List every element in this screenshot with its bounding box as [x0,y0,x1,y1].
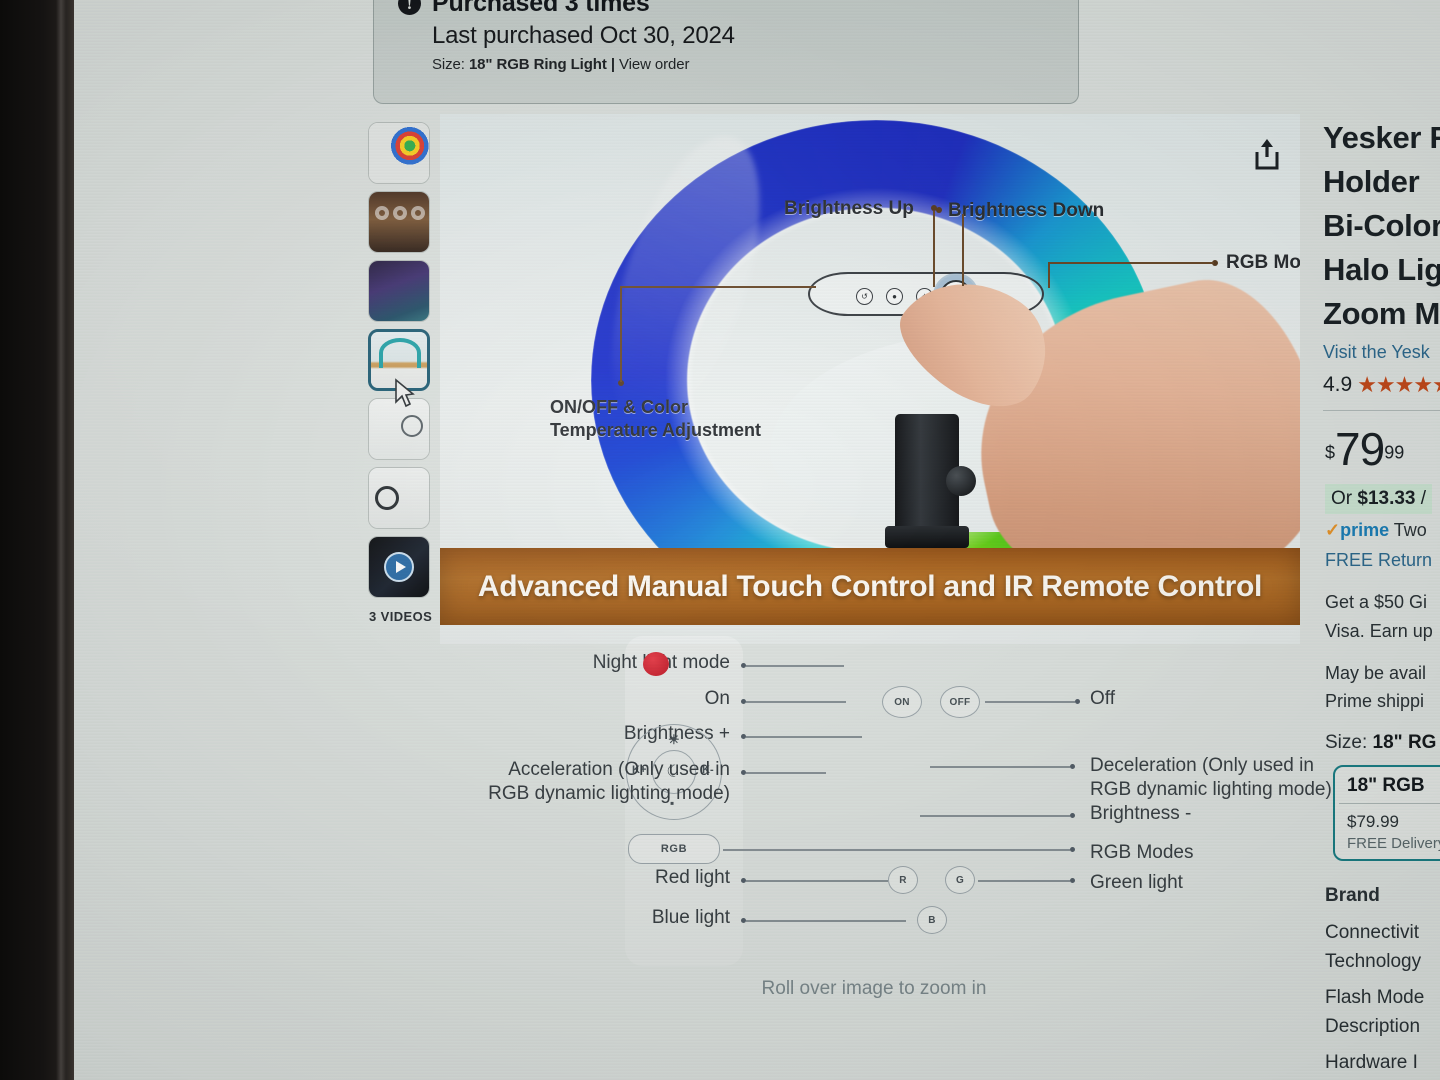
installment-prefix: Or [1331,488,1357,509]
leader-onoff-h [620,286,816,288]
remote-button-b: B [917,906,947,934]
remote-button-g: G [945,866,975,894]
remote-button-on: ON [882,686,922,718]
rating-row[interactable]: 4.9 ★★★★★ [1323,372,1440,398]
remote-dot-bright-minus [1070,813,1075,818]
info-icon: ! [398,0,421,15]
remote-label-brightness-minus: Brightness - [1090,803,1191,825]
size-label: Size: [432,56,465,73]
installment-amount: $13.33 [1357,488,1415,509]
price-block: $7999 [1325,422,1404,476]
leader-brightness-up [933,211,935,287]
share-icon[interactable] [1254,138,1280,170]
product-info-column: Yesker R Holder Bi-Color Halo Lig Zoom M… [1323,110,1440,1070]
remote-label-acceleration: Acceleration (Only used in RGB dynamic l… [470,758,730,806]
leader-onoff-v [620,286,622,382]
brand-store-link[interactable]: Visit the Yesk [1323,342,1430,363]
title-line-3: Bi-Color [1323,204,1440,248]
tripod-knob [946,466,976,496]
callout-brightness-down: Brightness Down [948,200,1104,222]
callout-brightness-up: Brightness Up [784,198,914,220]
remote-label-rgb-modes: RGB Modes [1090,842,1193,864]
remote-label-blue-light: Blue light [550,907,730,929]
prime-check-icon: ✓ [1325,520,1340,540]
remote-line-rgb [723,849,1070,851]
remote-line-bright-plus [746,736,862,738]
remote-line-night [746,665,844,667]
prime-shipping-row: ✓prime Two [1325,520,1427,541]
product-title: Yesker R Holder Bi-Color Halo Lig Zoom M [1323,116,1440,336]
remote-line-accel [746,772,826,774]
remote-line-bright-minus [920,815,1070,817]
size-row-label: Size: [1325,732,1367,753]
title-line-1: Yesker R [1323,116,1440,160]
thumb-lifestyle-makeup[interactable] [368,191,430,253]
image-caption-bar: Advanced Manual Touch Control and IR Rem… [440,548,1300,625]
title-line-4: Halo Lig [1323,248,1440,292]
remote-dot-decel [1070,764,1075,769]
remote-night-light-button [643,652,669,676]
remote-glyph-sun: ☀ [668,732,680,748]
callout-rgb-modes: RGB Modes [1226,252,1300,274]
remote-button-rgb: RGB [628,834,720,864]
thumb-ring-light-kit[interactable] [368,122,430,184]
view-order-link[interactable]: View order [619,56,689,73]
size-value: 18" RGB Ring Light [469,56,607,73]
size-row: Size: 18" RG [1325,732,1436,754]
thumb-video[interactable] [368,536,430,598]
leader-rgb-modes-v [1048,262,1050,288]
purchase-history-banner: ! Purchased 3 times Last purchased Oct 3… [373,0,1079,104]
remote-label-deceleration: Deceleration (Only used in RGB dynamic l… [1090,754,1360,802]
monitor-screen: ! Purchased 3 times Last purchased Oct 3… [74,0,1440,1080]
installment-suffix: / [1416,488,1427,509]
last-purchased-text: Last purchased Oct 30, 2024 [432,22,735,50]
pod-button-power: ↺ [856,288,873,305]
price-currency: $ [1325,443,1335,463]
rating-value: 4.9 [1323,373,1352,397]
title-line-5: Zoom M [1323,292,1440,336]
spec-label-description: Description [1325,1016,1420,1038]
installment-badge[interactable]: Or $13.33 / [1325,484,1432,514]
swatch-name: 18" RGB [1347,775,1425,797]
remote-dot-off [1075,699,1080,704]
pod-button-brightness-up: ● [886,288,903,305]
spec-label-flash-mode: Flash Mode [1325,987,1424,1009]
remote-label-night-light-mode: Night light mode [550,652,730,674]
gallery-thumbnail-rail[interactable] [368,122,434,605]
title-line-2: Holder [1323,160,1440,204]
monitor-bezel-glint [56,0,66,1080]
gift-card-line-1: Get a $50 Gi [1325,592,1427,613]
swatch-price: $79.99 [1347,812,1399,832]
prime-suffix: Two [1389,520,1427,540]
rating-stars: ★★★★★ [1357,372,1440,398]
remote-label-off: Off [1090,688,1115,710]
prime-word: prime [1340,520,1389,540]
remote-button-r: R [888,866,918,894]
purchase-size-and-link: Size: 18" RGB Ring Light | View order [432,56,689,73]
caption-text: Advanced Manual Touch Control and IR Rem… [478,570,1262,604]
availability-line-2: Prime shippi [1325,691,1424,712]
free-returns-link[interactable]: FREE Return [1325,550,1432,571]
remote-line-on [746,701,846,703]
remote-label-green-light: Green light [1090,872,1183,894]
spec-label-technology: Technology [1325,951,1421,973]
remote-line-red [746,880,888,882]
callout-onoff: ON/OFF & Color Temperature Adjustment [550,396,780,442]
thumb-rgb-colors[interactable] [368,260,430,322]
thumb-accessories[interactable] [368,467,430,529]
swatch-divider [1339,803,1440,804]
price-whole: 79 [1335,423,1384,475]
play-icon [384,552,414,582]
tripod-base [885,526,969,548]
remote-line-blue [746,920,906,922]
divider-rule [1323,410,1440,411]
mouse-cursor [394,378,416,408]
spec-label-brand: Brand [1325,885,1380,907]
gift-card-line-2: Visa. Earn up [1325,621,1433,642]
callout-dot-brightness-down [936,207,942,213]
spec-label-hardware: Hardware I [1325,1052,1418,1070]
remote-line-off [985,701,1075,703]
leader-rgb-modes-h [1050,262,1214,264]
purchase-count-title: Purchased 3 times [432,0,650,18]
remote-button-off: OFF [940,686,980,718]
size-swatch-selected[interactable]: 18" RGB $79.99 FREE Delivery [1333,765,1440,861]
separator: | [611,56,615,73]
remote-control-diagram: Night light mode On ON OFF Off Brightnes… [440,630,1300,1030]
leader-brightness-down [962,214,964,286]
video-count-label: 3 VIDEOS [369,609,432,624]
remote-label-red-light: Red light [550,867,730,889]
price-fraction: 99 [1384,443,1404,463]
availability-line-1: May be avail [1325,663,1426,684]
screen-photo: ! Purchased 3 times Last purchased Oct 3… [0,0,1440,1080]
remote-label-on: On [550,688,730,710]
spec-label-connectivity: Connectivit [1325,922,1419,944]
remote-line-decel [930,766,1070,768]
swatch-delivery: FREE Delivery [1347,835,1440,852]
size-row-value: 18" RG [1373,732,1437,753]
remote-line-green [978,880,1070,882]
zoom-hint-text: Roll over image to zoom in [444,978,1304,1000]
remote-dot-green [1070,878,1075,883]
remote-dot-rgb [1070,847,1075,852]
